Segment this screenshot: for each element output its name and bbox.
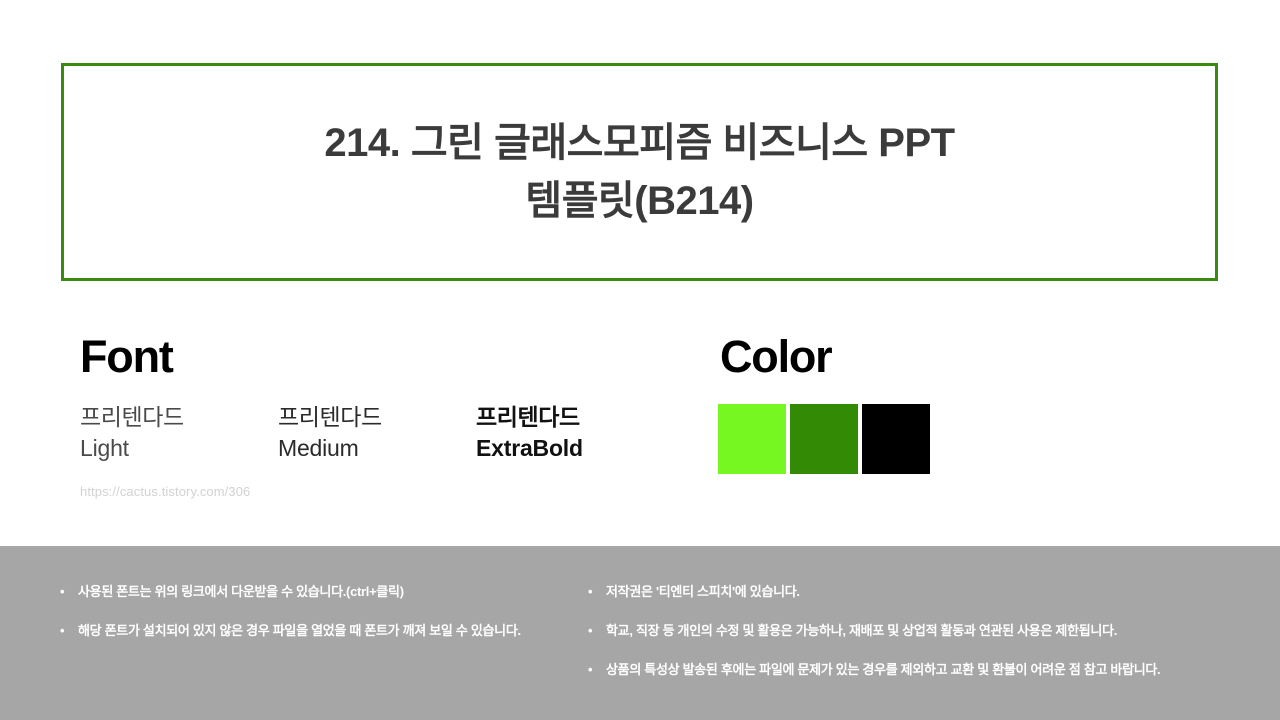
font-sample-light: 프리텐다드 Light bbox=[80, 402, 278, 464]
color-swatch-dark-green bbox=[790, 404, 858, 474]
note-text: 학교, 직장 등 개인의 수정 및 활용은 가능하나, 재배포 및 상업적 활동… bbox=[606, 623, 1248, 640]
note-text: 사용된 폰트는 위의 링크에서 다운받을 수 있습니다.(ctrl+클릭) bbox=[78, 584, 590, 601]
font-sample-list: 프리텐다드 Light 프리텐다드 Medium 프리텐다드 ExtraBold bbox=[80, 402, 700, 464]
font-sample-weight-label: ExtraBold bbox=[476, 433, 674, 464]
font-section: Font bbox=[80, 334, 680, 379]
bullet-icon: • bbox=[60, 623, 78, 640]
color-swatch-black bbox=[862, 404, 930, 474]
notes-column-left: • 사용된 폰트는 위의 링크에서 다운받을 수 있습니다.(ctrl+클릭) … bbox=[60, 546, 590, 662]
font-sample-medium: 프리텐다드 Medium bbox=[278, 402, 476, 464]
font-sample-extrabold: 프리텐다드 ExtraBold bbox=[476, 402, 674, 464]
bullet-icon: • bbox=[588, 662, 606, 679]
bullet-icon: • bbox=[588, 623, 606, 640]
note-item: • 해당 폰트가 설치되어 있지 않은 경우 파일을 열었을 때 폰트가 깨져 … bbox=[60, 623, 590, 640]
notes-bar: • 사용된 폰트는 위의 링크에서 다운받을 수 있습니다.(ctrl+클릭) … bbox=[0, 546, 1280, 720]
bullet-icon: • bbox=[588, 584, 606, 601]
font-download-link[interactable]: https://cactus.tistory.com/306 bbox=[80, 484, 250, 499]
color-section: Color bbox=[720, 334, 832, 379]
note-text: 해당 폰트가 설치되어 있지 않은 경우 파일을 열었을 때 폰트가 깨져 보일… bbox=[78, 623, 590, 640]
color-swatch-lime-green bbox=[718, 404, 786, 474]
title-box: 214. 그린 글래스모피즘 비즈니스 PPT 템플릿(B214) bbox=[61, 63, 1218, 281]
color-swatch-list bbox=[718, 404, 930, 474]
note-item: • 사용된 폰트는 위의 링크에서 다운받을 수 있습니다.(ctrl+클릭) bbox=[60, 584, 590, 601]
font-sample-korean: 프리텐다드 bbox=[476, 402, 674, 433]
font-sample-weight-label: Medium bbox=[278, 433, 476, 464]
font-sample-korean: 프리텐다드 bbox=[278, 402, 476, 433]
note-item: • 학교, 직장 등 개인의 수정 및 활용은 가능하나, 재배포 및 상업적 … bbox=[588, 623, 1248, 640]
font-sample-weight-label: Light bbox=[80, 433, 278, 464]
note-item: • 저작권은 '티엔티 스피치'에 있습니다. bbox=[588, 584, 1248, 601]
note-text: 상품의 특성상 발송된 후에는 파일에 문제가 있는 경우를 제외하고 교환 및… bbox=[606, 662, 1248, 679]
font-sample-korean: 프리텐다드 bbox=[80, 402, 278, 433]
page-title: 214. 그린 글래스모피즘 비즈니스 PPT 템플릿(B214) bbox=[324, 114, 954, 230]
note-text: 저작권은 '티엔티 스피치'에 있습니다. bbox=[606, 584, 1248, 601]
note-item: • 상품의 특성상 발송된 후에는 파일에 문제가 있는 경우를 제외하고 교환… bbox=[588, 662, 1248, 679]
font-section-heading: Font bbox=[80, 334, 680, 379]
bullet-icon: • bbox=[60, 584, 78, 601]
color-section-heading: Color bbox=[720, 334, 832, 379]
notes-column-right: • 저작권은 '티엔티 스피치'에 있습니다. • 학교, 직장 등 개인의 수… bbox=[588, 546, 1248, 701]
